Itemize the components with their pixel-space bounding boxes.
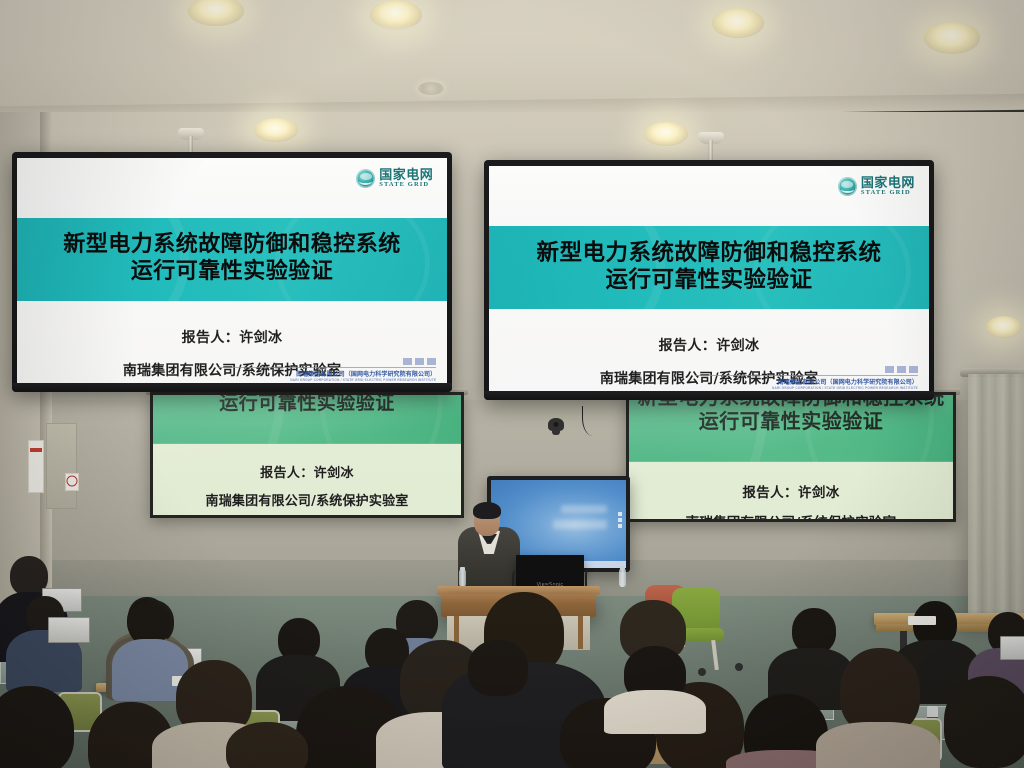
projection-screen-right: 国家电网 STATE GRID 新型电力系统故障防御和稳控系统 运行可靠性实验验… — [626, 392, 956, 522]
water-bottle-podium-right — [619, 569, 626, 587]
podium-microphone-right — [585, 568, 593, 588]
wall-notice-red-bar — [30, 448, 42, 452]
proj-right-title-band: 新型电力系统故障防御和稳控系统 运行可靠性实验验证 — [629, 395, 953, 461]
ceiling — [0, 0, 1024, 108]
slide-left-footer-marks — [403, 358, 436, 365]
proj-right-presenter: 报告人：许剑冰 — [742, 481, 839, 501]
wall-camera-mount — [552, 429, 560, 435]
green-chair-wheel-2 — [735, 663, 743, 671]
audience-laptop-2[interactable] — [48, 617, 90, 643]
midrow-body-2 — [604, 690, 706, 734]
lecture-hall-scene: 国家电网 STATE GRID 新型电力系统故障防御和稳控系统 运行可靠性实验验… — [0, 0, 1024, 768]
slide-right-logo: 国家电网 STATE GRID — [838, 177, 915, 197]
window-curtain — [968, 374, 1024, 632]
slide-right-footer-en: NARI GROUP CORPORATION / STATE GRID ELEC… — [772, 386, 918, 390]
slide-right-title-line2: 运行可靠性实验验证 — [605, 267, 812, 294]
audience-laptop-right[interactable] — [1000, 636, 1024, 660]
green-chair-wheel-1 — [698, 668, 706, 676]
desk-paper-2 — [908, 616, 936, 625]
midrow-head-1 — [468, 640, 528, 696]
proj-right-title-line2: 运行可靠性实验验证 — [699, 409, 884, 433]
podium-monitor[interactable]: ViewSonic — [516, 555, 584, 587]
wall-lcd-right[interactable]: 国家电网 STATE GRID 新型电力系统故障防御和稳控系统 运行可靠性实验验… — [484, 160, 934, 400]
foreground-head-11 — [944, 676, 1024, 768]
proj-left-title-band: 新型电力系统故障防御和稳控系统 运行可靠性实验验证 — [153, 395, 461, 444]
slide-right-presenter: 报告人：许剑冰 — [659, 335, 760, 355]
wall-lcd-left[interactable]: 国家电网 STATE GRID 新型电力系统故障防御和稳控系统 运行可靠性实验验… — [12, 152, 452, 392]
slide-right-body: 报告人：许剑冰 南瑞集团有限公司/系统保护实验室 南瑞集团有限公司（国网电力科学… — [489, 309, 929, 391]
ceiling-spotlight-3 — [712, 8, 764, 38]
slide-right-title-line1: 新型电力系统故障防御和稳控系统 — [536, 240, 881, 267]
slide-left-title-line2: 运行可靠性实验验证 — [131, 259, 334, 286]
logo-en-label: STATE GRID — [861, 190, 915, 197]
water-bottle-podium-left — [459, 570, 466, 587]
slide-left-title-band: 新型电力系统故障防御和稳控系统 运行可靠性实验验证 — [17, 218, 447, 301]
ceiling-spotlight-4 — [924, 22, 980, 54]
slide-left: 国家电网 STATE GRID 新型电力系统故障防御和稳控系统 运行可靠性实验验… — [17, 158, 447, 383]
slide-right-footer: 南瑞集团有限公司（国网电力科学研究院有限公司） NARI GROUP CORPO… — [489, 366, 929, 390]
slide-left-logo: 国家电网 STATE GRID — [356, 169, 433, 189]
logo-en-label: STATE GRID — [379, 182, 433, 189]
water-bottle-cap-left — [460, 567, 465, 571]
proj-left-title-line2: 运行可靠性实验验证 — [219, 395, 395, 415]
state-grid-globe-icon — [838, 177, 857, 196]
display-side-buttons[interactable] — [618, 512, 622, 528]
slide-right-title-band: 新型电力系统故障防御和稳控系统 运行可靠性实验验证 — [489, 226, 929, 309]
ceiling-spotlight-6 — [644, 122, 688, 146]
foreground-head-12 — [226, 722, 308, 768]
ceiling-spotlight-7 — [986, 316, 1022, 338]
projection-screen-left: 国家电网 STATE GRID 新型电力系统故障防御和稳控系统 运行可靠性实验验… — [150, 392, 464, 518]
slide-left-header: 国家电网 STATE GRID — [17, 158, 447, 218]
slide-left-title-line1: 新型电力系统故障防御和稳控系统 — [63, 232, 401, 259]
proj-left-affiliation: 南瑞集团有限公司/系统保护实验室 — [206, 490, 409, 509]
podium-leg-right — [578, 616, 583, 649]
slide-left-footer-en: NARI GROUP CORPORATION / STATE GRID ELEC… — [290, 378, 436, 382]
presenter-hair — [473, 502, 501, 519]
tv-mount-arm-right — [708, 140, 713, 162]
no-smoking-sign — [65, 473, 79, 491]
ceiling-spotlight-5 — [254, 118, 298, 142]
slide-right-footer-marks — [885, 366, 918, 373]
slide-left-footer: 南瑞集团有限公司（国网电力科学研究院有限公司） NARI GROUP CORPO… — [17, 358, 447, 382]
wall-cable — [582, 406, 600, 436]
logo-cn-label: 国家电网 — [379, 169, 433, 182]
slide-left-presenter: 报告人：许剑冰 — [182, 327, 283, 347]
state-grid-globe-icon — [356, 169, 375, 188]
water-bottle-cap-right — [620, 566, 625, 570]
slide-right-footer-cn: 南瑞集团有限公司（国网电力科学研究院有限公司） — [778, 377, 918, 386]
slide-left-footer-cn: 南瑞集团有限公司（国网电力科学研究院有限公司） — [296, 369, 436, 378]
proj-left-presenter: 报告人：许剑冰 — [260, 462, 354, 481]
proj-left-slide-footer-area: 报告人：许剑冰 南瑞集团有限公司/系统保护实验室 南瑞集团有限公司（国网电力科学… — [153, 444, 461, 515]
logo-cn-label: 国家电网 — [861, 177, 915, 190]
slide-right-header: 国家电网 STATE GRID — [489, 166, 929, 226]
wall-service-panel — [46, 423, 77, 509]
proj-right-affiliation: 南瑞集团有限公司/系统保护实验室 — [686, 511, 897, 519]
foreground-body-10 — [816, 722, 940, 768]
proj-right-slide-footer-area: 报告人：许剑冰 南瑞集团有限公司/系统保护实验室 南瑞集团有限公司（国网电力科学… — [629, 461, 953, 519]
slide-left-body: 报告人：许剑冰 南瑞集团有限公司/系统保护实验室 南瑞集团有限公司（国网电力科学… — [17, 301, 447, 383]
ceiling-vent — [418, 82, 444, 95]
slide-right: 国家电网 STATE GRID 新型电力系统故障防御和稳控系统 运行可靠性实验验… — [489, 166, 929, 391]
